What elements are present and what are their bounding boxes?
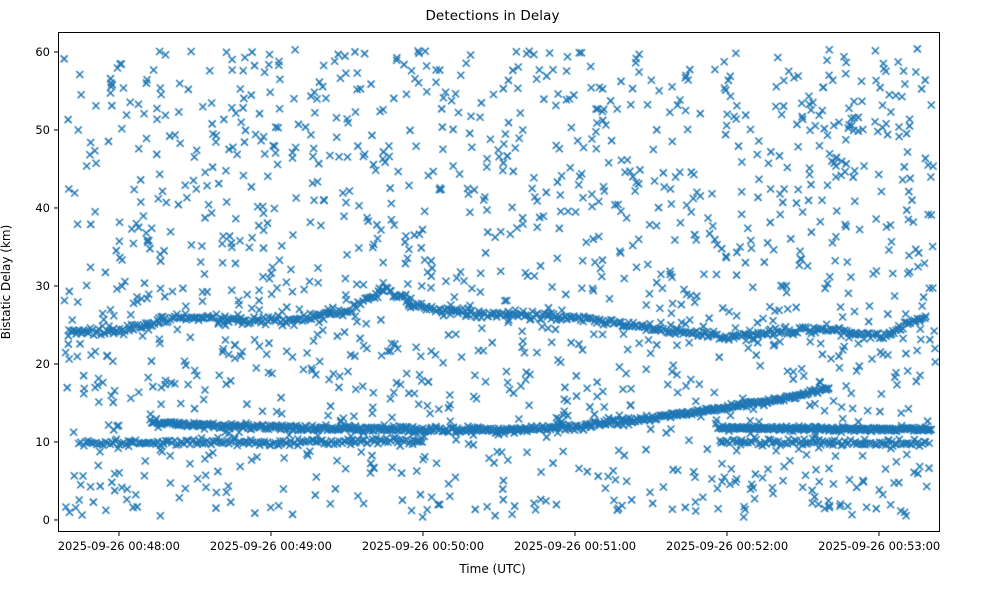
y-tick-mark [54, 520, 58, 521]
x-tick-mark [574, 532, 575, 536]
x-tick-mark [727, 532, 728, 536]
y-tick-label: 20 [0, 357, 50, 371]
y-tick-mark [54, 129, 58, 130]
y-tick-label: 60 [0, 45, 50, 59]
x-tick-mark [879, 532, 880, 536]
y-tick-mark [54, 363, 58, 364]
y-tick-label: 40 [0, 201, 50, 215]
y-tick-mark [54, 285, 58, 286]
x-tick-mark [270, 532, 271, 536]
y-tick-label: 0 [0, 513, 50, 527]
y-tick-label: 50 [0, 123, 50, 137]
y-axis-label: Bistatic Delay (km) [0, 225, 13, 340]
y-tick-mark [54, 207, 58, 208]
x-tick-mark [422, 532, 423, 536]
x-tick-label: 2025-09-26 00:50:00 [362, 539, 484, 553]
page-title: Detections in Delay [0, 8, 985, 24]
x-tick-mark [118, 532, 119, 536]
y-tick-mark [54, 51, 58, 52]
matplotlib-figure: Detections in Delay 0102030405060 2025-0… [0, 0, 985, 590]
plot-axes [58, 32, 940, 532]
x-tick-label: 2025-09-26 00:52:00 [666, 539, 788, 553]
scatter-plot-canvas [59, 33, 940, 532]
x-axis-label: Time (UTC) [0, 562, 985, 576]
x-tick-label: 2025-09-26 00:49:00 [210, 539, 332, 553]
x-tick-label: 2025-09-26 00:51:00 [514, 539, 636, 553]
y-tick-label: 10 [0, 435, 50, 449]
x-tick-label: 2025-09-26 00:53:00 [818, 539, 940, 553]
y-tick-mark [54, 442, 58, 443]
x-tick-label: 2025-09-26 00:48:00 [58, 539, 180, 553]
